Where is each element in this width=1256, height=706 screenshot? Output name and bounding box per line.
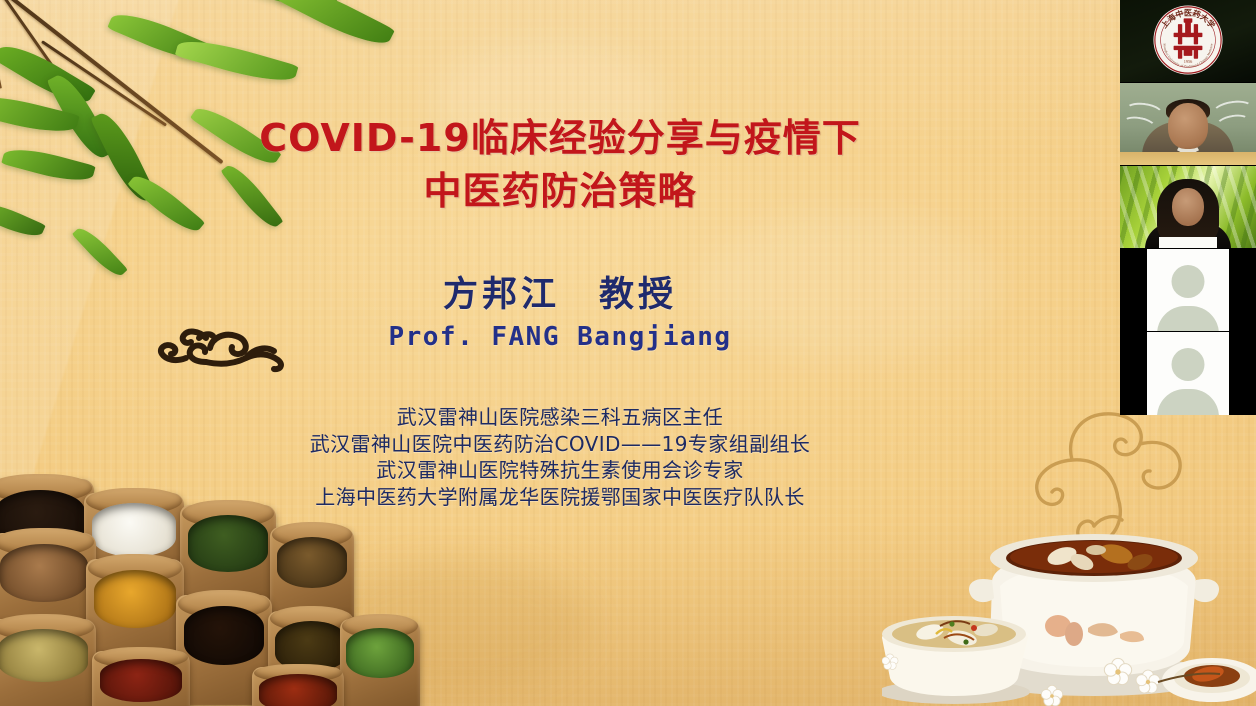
avatar (1147, 249, 1229, 332)
video-tile-placeholder-1[interactable] (1120, 249, 1256, 332)
slide-title: COVID-19临床经验分享与疫情下 中医药防治策略 (0, 112, 1120, 218)
video-tile-university-seal[interactable]: 上海中医药大学 Shanghai University of Tradition… (1120, 0, 1256, 83)
participant-name-strip (1159, 237, 1217, 249)
title-line-2: 中医药防治策略 (0, 165, 1120, 218)
screen: COVID-19临床经验分享与疫情下 中医药防治策略 方邦江 教授 Prof. … (0, 0, 1256, 706)
participant-face (1172, 188, 1204, 226)
herb-bags-image (0, 471, 420, 706)
presentation-slide[interactable]: COVID-19临床经验分享与疫情下 中医药防治策略 方邦江 教授 Prof. … (0, 0, 1256, 706)
avatar-body-icon (1157, 389, 1219, 415)
video-tile-female-participant[interactable] (1120, 166, 1256, 249)
avatar (1147, 332, 1229, 415)
speaker-block: 方邦江 教授 Prof. FANG Bangjiang (0, 272, 1120, 355)
avatar-body-icon (1157, 306, 1219, 332)
avatar-head-icon (1172, 265, 1205, 298)
svg-text:1956: 1956 (1184, 59, 1193, 64)
university-seal-icon: 上海中医药大学 Shanghai University of Tradition… (1152, 4, 1224, 76)
title-line-1: COVID-19临床经验分享与疫情下 (0, 112, 1120, 165)
video-tile-male-presenter[interactable] (1120, 83, 1256, 166)
speaker-name-english: Prof. FANG Bangjiang (0, 319, 1120, 355)
speaker-name-chinese: 方邦江 教授 (0, 272, 1120, 319)
video-tile-placeholder-2[interactable] (1120, 332, 1256, 415)
herbal-soup-pot-image (882, 376, 1256, 706)
presenter-face (1168, 103, 1208, 149)
avatar-head-icon (1172, 348, 1205, 381)
presenter-desk (1120, 152, 1256, 166)
video-participant-strip[interactable]: 上海中医药大学 Shanghai University of Tradition… (1120, 0, 1256, 412)
